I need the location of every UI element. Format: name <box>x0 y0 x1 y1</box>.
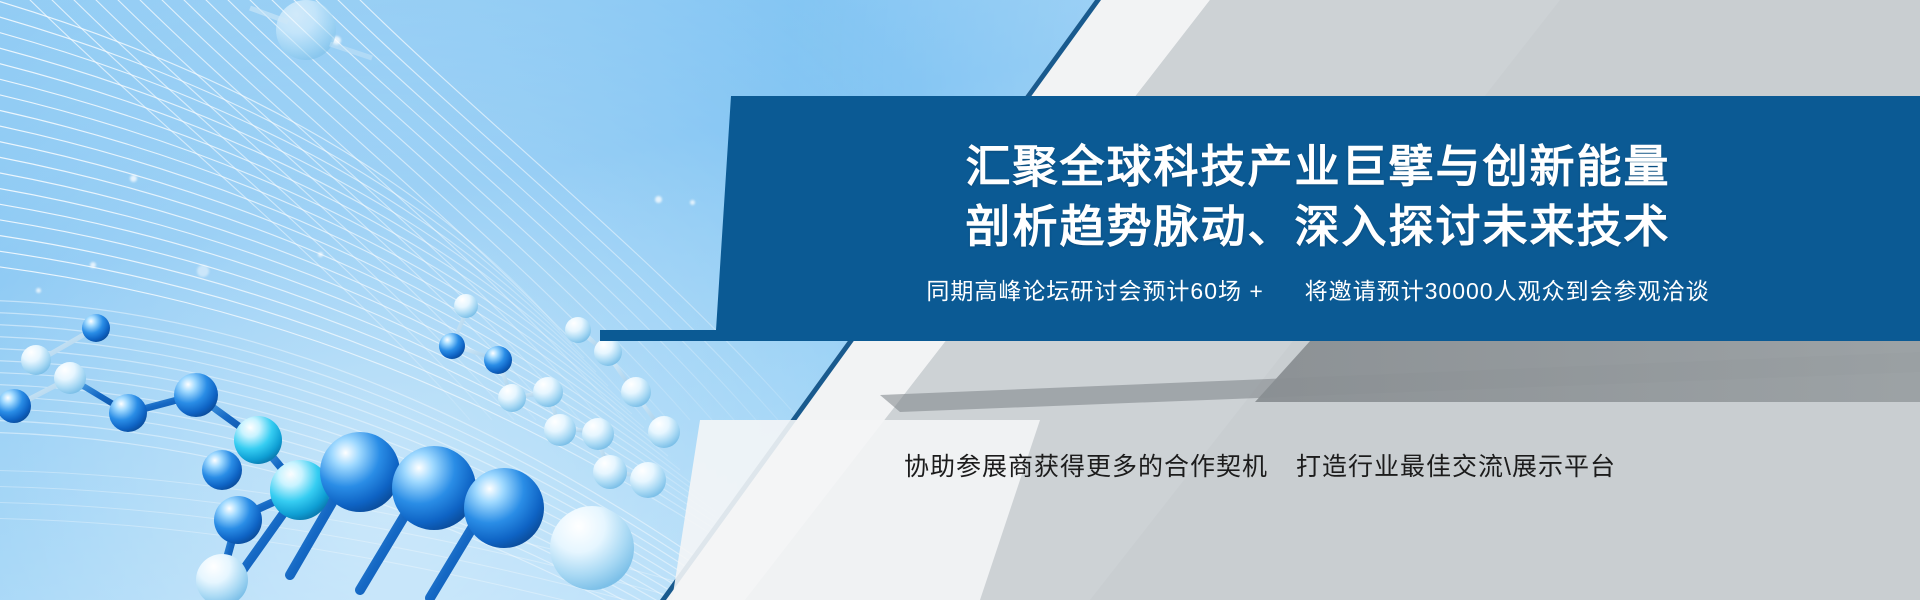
molecule-sphere <box>234 416 282 464</box>
molecule-sphere <box>320 432 400 512</box>
molecule-sphere <box>484 346 512 374</box>
tagline-row: 协助参展商获得更多的合作契机 打造行业最佳交流\展示平台 <box>600 405 1920 525</box>
sparkle-dot <box>130 175 137 182</box>
sparkle-dot <box>655 196 662 203</box>
promo-banner: 汇聚全球科技产业巨擘与创新能量 剖析趋势脉动、深入探讨未来技术 同期高峰论坛研讨… <box>0 0 1920 600</box>
molecule-sphere <box>109 394 147 432</box>
subtitle-row: 同期高峰论坛研讨会预计60场 + 将邀请预计30000人观众到会参观洽谈 <box>926 272 1709 306</box>
molecule-sphere <box>464 468 544 548</box>
molecule-sphere <box>392 446 476 530</box>
subtitle-right: 将邀请预计30000人观众到会参观洽谈 <box>1305 278 1710 304</box>
molecule-sphere <box>454 294 478 318</box>
molecule-sphere <box>196 554 248 600</box>
molecule-sphere <box>594 338 622 366</box>
molecule-sphere <box>270 460 330 520</box>
sparkle-dot <box>36 288 41 293</box>
headline-line-2: 剖析趋势脉动、深入探讨未来技术 <box>965 197 1670 256</box>
molecule-sphere <box>174 373 218 417</box>
sparkle-dot <box>197 265 209 277</box>
molecule-sphere <box>565 317 591 343</box>
molecule-sphere <box>533 377 563 407</box>
molecule-sphere <box>498 384 526 412</box>
molecule-sphere <box>621 377 651 407</box>
molecule-sphere <box>276 0 336 60</box>
tagline-left: 协助参展商获得更多的合作契机 <box>904 447 1268 483</box>
sparkle-dot <box>318 252 323 257</box>
sparkle-dot <box>332 36 341 45</box>
molecule-sphere <box>439 333 465 359</box>
tagline-right: 打造行业最佳交流\展示平台 <box>1296 447 1616 483</box>
molecule-sphere <box>202 450 242 490</box>
subtitle-left: 同期高峰论坛研讨会预计60场 + <box>926 278 1263 304</box>
molecule-sphere <box>82 314 110 342</box>
molecule-sphere <box>54 362 86 394</box>
molecule-sphere <box>544 414 576 446</box>
molecule-sphere <box>21 345 51 375</box>
sparkle-dot <box>90 262 96 268</box>
sparkle-dot <box>690 200 695 205</box>
headline-line-1: 汇聚全球科技产业巨擘与创新能量 <box>965 137 1670 196</box>
headline-panel-content: 汇聚全球科技产业巨擘与创新能量 剖析趋势脉动、深入探讨未来技术 同期高峰论坛研讨… <box>716 96 1920 341</box>
molecule-sphere <box>0 389 31 423</box>
molecule-sphere <box>214 496 262 544</box>
